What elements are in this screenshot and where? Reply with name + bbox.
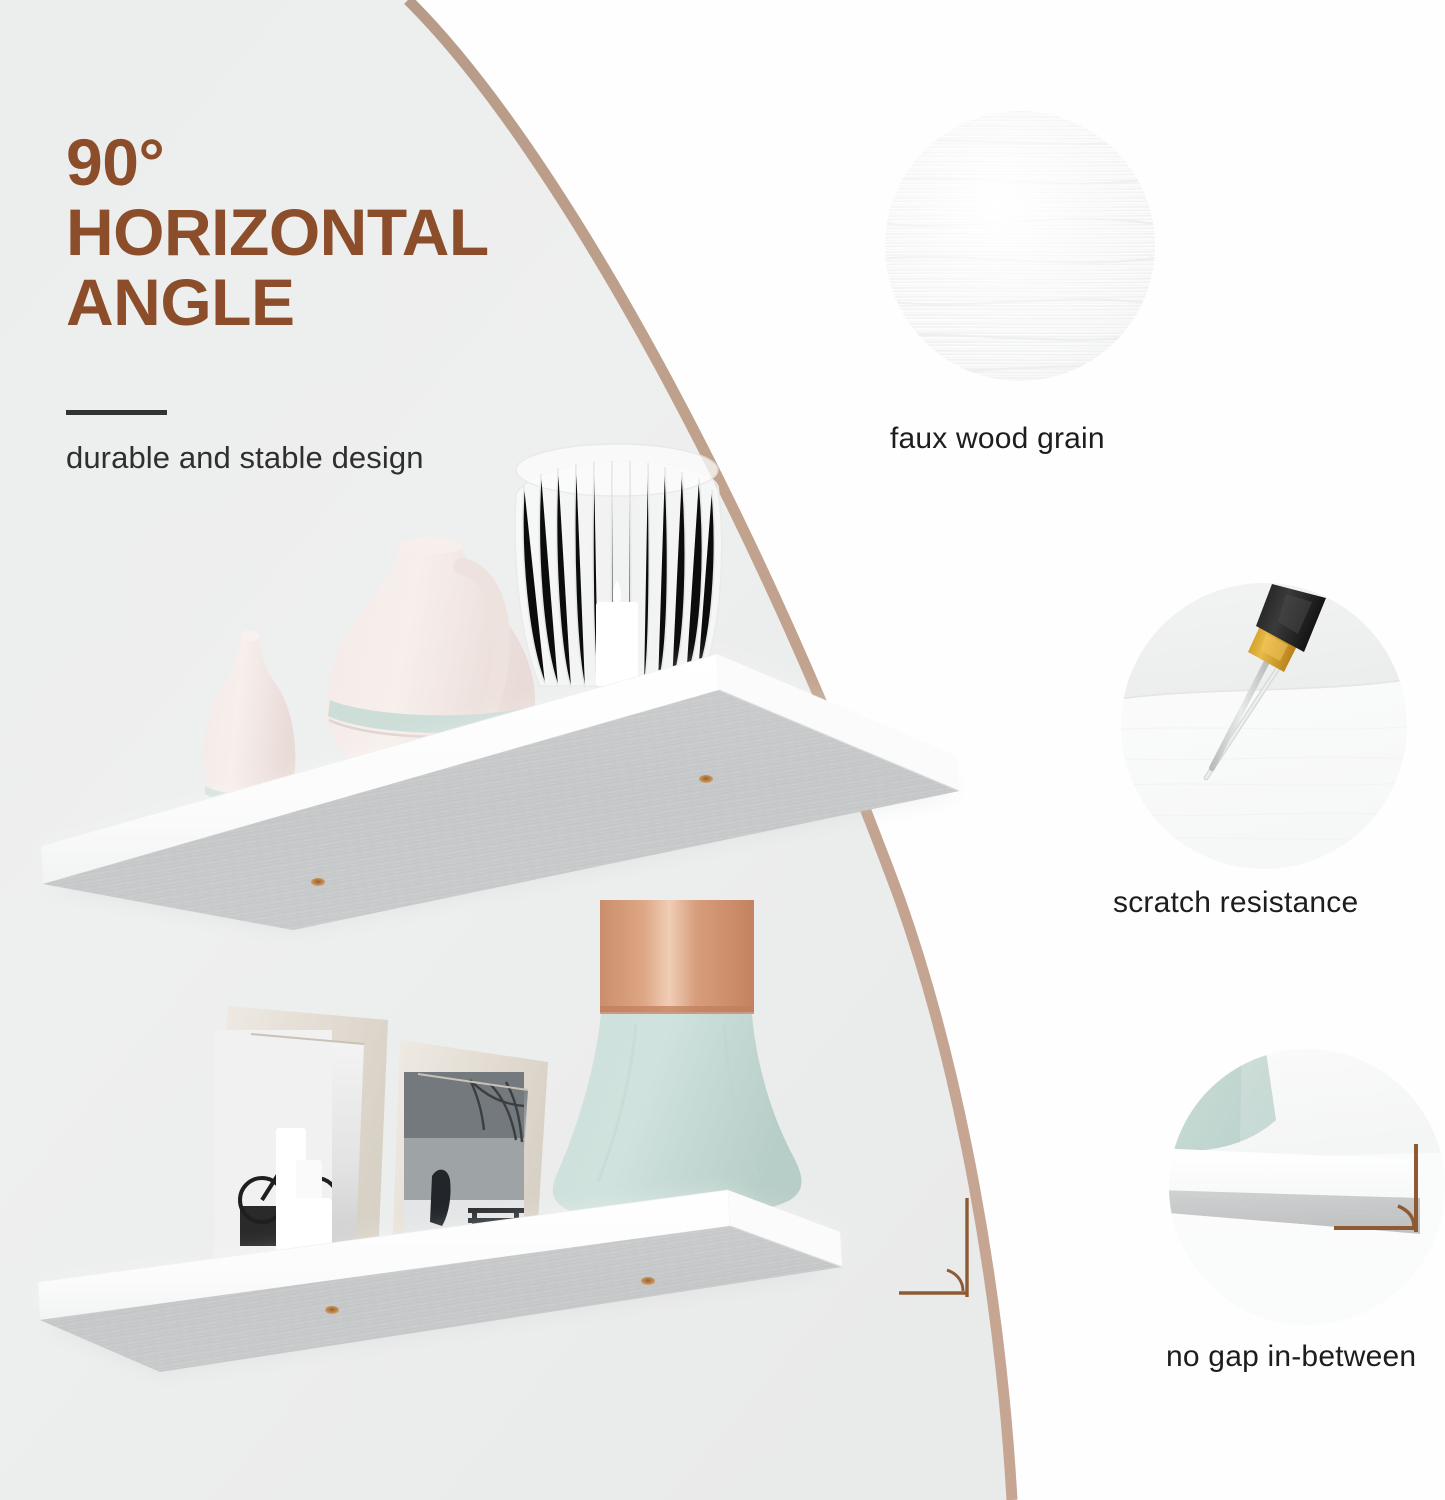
inset-faux-wood-grain — [884, 110, 1156, 382]
screw-hole — [311, 878, 325, 886]
screw-hole — [699, 775, 713, 783]
blush-bottle-vase — [204, 630, 296, 803]
candle-body — [596, 602, 638, 686]
inset-no-gap — [1168, 1048, 1445, 1326]
screw-hole — [641, 1277, 655, 1285]
callout-label-scratch-resistance: scratch resistance — [1113, 886, 1358, 920]
right-angle-marker-icon — [1168, 1048, 1445, 1326]
lower-shelf-group — [38, 900, 967, 1372]
vase-copper-collar — [600, 900, 754, 1012]
screwdriver-icon — [1120, 582, 1408, 870]
upper-shelf-group — [41, 444, 959, 930]
callout-label-faux-wood-grain: faux wood grain — [890, 422, 1105, 456]
mint-vase-copper-top — [553, 900, 802, 1220]
wood-grain-swatch-icon — [884, 110, 1156, 382]
callout-label-no-gap: no gap in-between — [1166, 1340, 1416, 1374]
infographic-canvas: 90° HORIZONTAL ANGLE durable and stable … — [0, 0, 1445, 1500]
ribbed-glass-lantern — [515, 444, 722, 688]
screw-hole — [325, 1306, 339, 1314]
right-angle-marker-icon — [899, 1198, 967, 1297]
inset-scratch-resistance — [1120, 582, 1408, 870]
